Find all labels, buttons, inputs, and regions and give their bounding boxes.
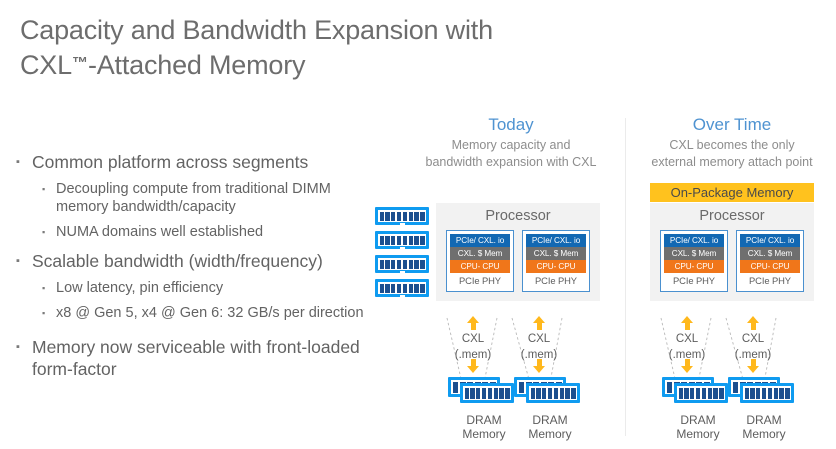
dram-module-over-2: DRAM Memory (728, 375, 800, 441)
layer-pcie-cxl-io: PCIe/ CXL. io (526, 234, 586, 247)
core-row: PCIe/ CXL. io CXL. $ Mem CPU- CPU PCIe P… (443, 230, 593, 292)
layer-cxl-cache-mem: CXL. $ Mem (450, 247, 510, 260)
on-package-memory-banner: On-Package Memory (650, 183, 814, 202)
dram-module-today-2: DRAM Memory (514, 375, 586, 441)
dimm-module-icon (662, 375, 728, 405)
layer-cxl-cache-mem: CXL. $ Mem (664, 247, 724, 260)
bullet-text: x8 @ Gen 5, x4 @ Gen 6: 32 GB/s per dire… (56, 304, 376, 322)
bullet-marker-icon: ▪ (42, 279, 56, 297)
processor-package-today: Processor PCIe/ CXL. io CXL. $ Mem CPU- … (436, 203, 600, 301)
trademark-symbol: ™ (72, 55, 88, 72)
column-heading-over-time: Over Time CXL becomes the only external … (628, 114, 836, 170)
core-block: PCIe/ CXL. io CXL. $ Mem CPU- CPU PCIe P… (660, 230, 728, 292)
cxl-link-over-2: CXL (.mem) (724, 316, 782, 373)
list-item: ▪ Memory now serviceable with front-load… (16, 336, 376, 380)
column-title: Over Time (628, 114, 836, 136)
title-line-2-suffix: -Attached Memory (88, 50, 305, 80)
core-row: PCIe/ CXL. io CXL. $ Mem CPU- CPU PCIe P… (657, 230, 807, 292)
dram-label-line-1: DRAM (728, 413, 800, 427)
dimm-module-icon (375, 279, 429, 297)
dram-label-line-1: DRAM (514, 413, 586, 427)
list-item: ▪ x8 @ Gen 5, x4 @ Gen 6: 32 GB/s per di… (16, 304, 376, 322)
dram-label-line-2: Memory (662, 427, 734, 441)
bullet-text: Memory now serviceable with front-loaded… (32, 336, 376, 380)
column-subtitle-line-1: Memory capacity and (398, 137, 624, 153)
processor-block: Processor PCIe/ CXL. io CXL. $ Mem CPU- … (436, 203, 600, 301)
bullet-text: Common platform across segments (32, 151, 376, 173)
arrow-down-icon (467, 366, 479, 373)
layer-cxl-cache-mem: CXL. $ Mem (740, 247, 800, 260)
column-heading-today: Today Memory capacity and bandwidth expa… (398, 114, 624, 170)
cxl-link-label-line-1: CXL (724, 332, 782, 346)
layer-cpu: CPU- CPU (450, 260, 510, 273)
processor-block: Processor PCIe/ CXL. io CXL. $ Mem CPU- … (650, 203, 814, 301)
cxl-link-today-2: CXL (.mem) (510, 316, 568, 373)
bullet-marker-icon: ▪ (16, 151, 32, 173)
layer-cxl-cache-mem: CXL. $ Mem (526, 247, 586, 260)
layer-pcie-phy: PCIe PHY (450, 273, 510, 288)
dimm-module-icon (375, 255, 429, 273)
list-item: ▪ Common platform across segments (16, 151, 376, 173)
arrow-down-icon (681, 366, 693, 373)
layer-pcie-phy: PCIe PHY (740, 273, 800, 288)
arrow-up-icon (747, 316, 759, 323)
dram-label-line-1: DRAM (662, 413, 734, 427)
layer-cpu: CPU- CPU (526, 260, 586, 273)
page-title: Capacity and Bandwidth Expansion with CX… (20, 14, 620, 82)
title-line-2-prefix: CXL (20, 50, 72, 80)
dram-label-line-2: Memory (448, 427, 520, 441)
list-item: ▪ NUMA domains well established (16, 223, 376, 241)
bullet-text: Scalable bandwidth (width/frequency) (32, 250, 376, 272)
list-item: ▪ Scalable bandwidth (width/frequency) (16, 250, 376, 272)
layer-cpu: CPU- CPU (740, 260, 800, 273)
arrow-down-icon (747, 366, 759, 373)
arrow-up-icon (467, 316, 479, 323)
column-subtitle-line-1: CXL becomes the only (628, 137, 836, 153)
arrow-up-icon (533, 316, 545, 323)
dram-module-today-1: DRAM Memory (448, 375, 520, 441)
cxl-link-today-1: CXL (.mem) (444, 316, 502, 373)
cxl-link-over-1: CXL (.mem) (658, 316, 716, 373)
bullet-marker-icon: ▪ (42, 223, 56, 241)
dimm-module-icon (448, 375, 514, 405)
layer-cpu: CPU- CPU (664, 260, 724, 273)
bullet-marker-icon: ▪ (42, 304, 56, 322)
dimm-stack (375, 207, 429, 303)
processor-label: Processor (657, 207, 807, 226)
dram-label-line-2: Memory (728, 427, 800, 441)
bullet-marker-icon: ▪ (42, 180, 56, 216)
list-item: ▪ Decoupling compute from traditional DI… (16, 180, 376, 216)
cxl-link-label-line-1: CXL (510, 332, 568, 346)
dimm-module-icon (514, 375, 580, 405)
dimm-module-icon (375, 231, 429, 249)
column-subtitle-line-2: bandwidth expansion with CXL (398, 154, 624, 170)
dimm-module-icon (728, 375, 794, 405)
arrow-up-icon (681, 316, 693, 323)
cxl-link-label-line-1: CXL (444, 332, 502, 346)
list-item: ▪ Low latency, pin efficiency (16, 279, 376, 297)
layer-pcie-cxl-io: PCIe/ CXL. io (450, 234, 510, 247)
bullet-list: ▪ Common platform across segments ▪ Deco… (16, 142, 376, 380)
bullet-marker-icon: ▪ (16, 250, 32, 272)
arrow-down-icon (533, 366, 545, 373)
bullet-text: Decoupling compute from traditional DIMM… (56, 180, 376, 216)
column-subtitle-line-2: external memory attach point (628, 154, 836, 170)
bullet-marker-icon: ▪ (16, 336, 32, 380)
cxl-link-label-line-1: CXL (658, 332, 716, 346)
dram-module-over-1: DRAM Memory (662, 375, 734, 441)
layer-pcie-cxl-io: PCIe/ CXL. io (740, 234, 800, 247)
column-title: Today (398, 114, 624, 136)
layer-pcie-cxl-io: PCIe/ CXL. io (664, 234, 724, 247)
processor-package-over-time: Processor PCIe/ CXL. io CXL. $ Mem CPU- … (650, 203, 814, 301)
slide-canvas: Capacity and Bandwidth Expansion with CX… (0, 0, 836, 449)
column-divider (625, 118, 626, 436)
dimm-module-icon (375, 207, 429, 225)
core-block: PCIe/ CXL. io CXL. $ Mem CPU- CPU PCIe P… (446, 230, 514, 292)
layer-pcie-phy: PCIe PHY (526, 273, 586, 288)
dram-label-line-2: Memory (514, 427, 586, 441)
core-block: PCIe/ CXL. io CXL. $ Mem CPU- CPU PCIe P… (736, 230, 804, 292)
bullet-text: NUMA domains well established (56, 223, 376, 241)
dram-label-line-1: DRAM (448, 413, 520, 427)
processor-label: Processor (443, 207, 593, 226)
bullet-text: Low latency, pin efficiency (56, 279, 376, 297)
core-block: PCIe/ CXL. io CXL. $ Mem CPU- CPU PCIe P… (522, 230, 590, 292)
layer-pcie-phy: PCIe PHY (664, 273, 724, 288)
title-line-1: Capacity and Bandwidth Expansion with (20, 15, 493, 45)
